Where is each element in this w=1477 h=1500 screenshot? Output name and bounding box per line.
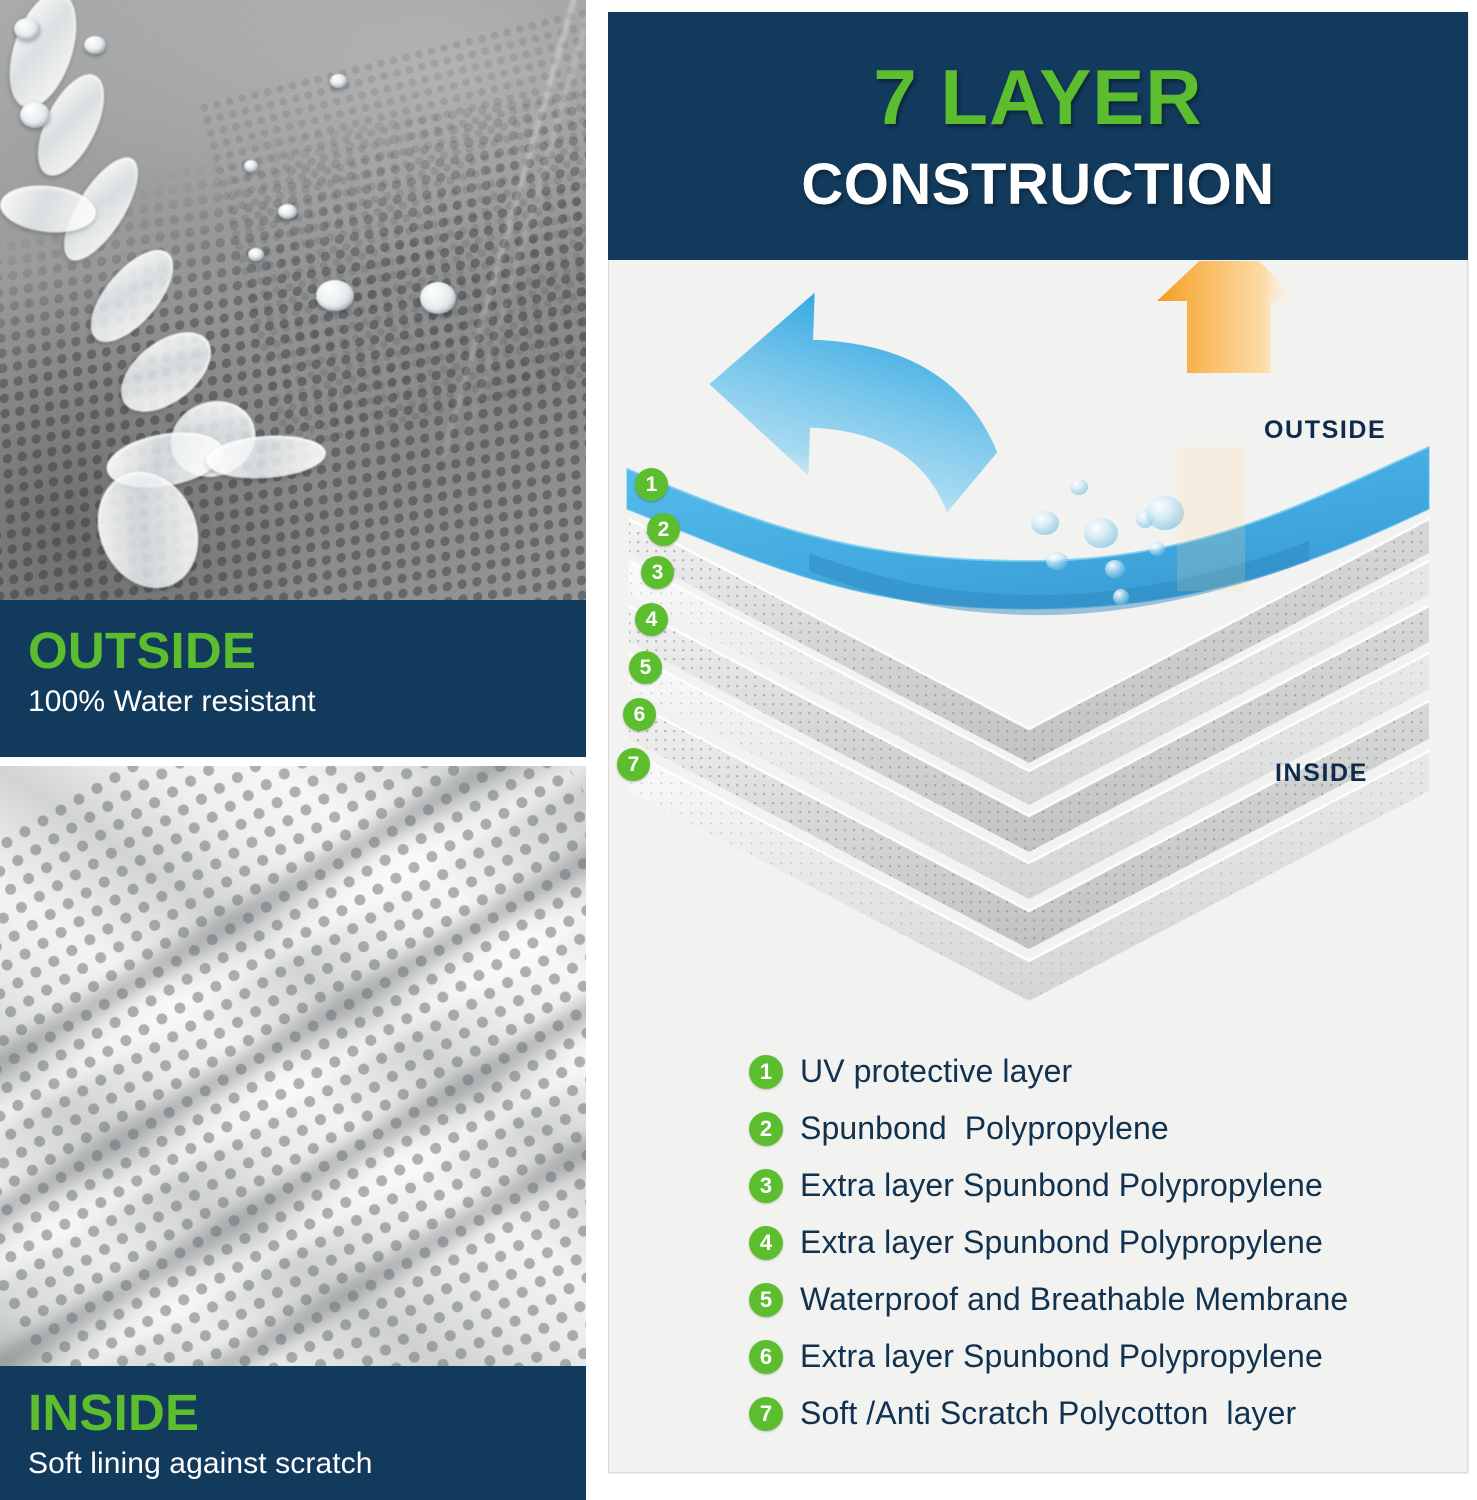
inside-title: INSIDE <box>28 1388 586 1438</box>
left-photo-column: OUTSIDE 100% Water resistant INSIDE Soft… <box>0 0 586 1500</box>
legend-badge-4: 4 <box>749 1226 783 1260</box>
layer-legend-list: 1 UV protective layer 2 Spunbond Polypro… <box>609 1043 1467 1442</box>
panel-header: 7 LAYER CONSTRUCTION <box>608 12 1468 260</box>
water-droplet <box>1113 589 1129 605</box>
list-item: 7 Soft /Anti Scratch Polycotton layer <box>609 1385 1467 1442</box>
list-item: 6 Extra layer Spunbond Polypropylene <box>609 1328 1467 1385</box>
legend-text-7: Soft /Anti Scratch Polycotton layer <box>800 1395 1296 1432</box>
legend-badge-1: 1 <box>749 1055 783 1089</box>
list-item: 4 Extra layer Spunbond Polypropylene <box>609 1214 1467 1271</box>
breathability-arrow <box>1157 261 1301 373</box>
legend-badge-2: 2 <box>749 1112 783 1146</box>
water-repel-arrow <box>705 289 1002 514</box>
construction-panel: 7 LAYER CONSTRUCTION <box>608 12 1468 1473</box>
diagram-badge-4: 4 <box>635 603 668 636</box>
water-bead <box>316 280 354 311</box>
diagram-badge-5: 5 <box>629 651 662 684</box>
legend-badge-6: 6 <box>749 1340 783 1374</box>
water-bead <box>278 204 297 219</box>
water-bead <box>248 248 264 261</box>
diagram-badge-6: 6 <box>623 698 656 731</box>
infographic-root: OUTSIDE 100% Water resistant INSIDE Soft… <box>0 0 1477 1500</box>
water-droplet <box>1149 542 1165 556</box>
water-droplet <box>1031 511 1059 535</box>
water-bead <box>20 102 50 128</box>
water-droplet <box>1105 560 1125 578</box>
outside-photo-card: OUTSIDE 100% Water resistant <box>0 0 586 757</box>
legend-badge-5: 5 <box>749 1283 783 1317</box>
legend-text-1: UV protective layer <box>800 1053 1072 1090</box>
inside-caption-bar: INSIDE Soft lining against scratch <box>0 1366 586 1500</box>
water-bead <box>420 282 456 314</box>
water-bead <box>14 18 40 40</box>
water-bead <box>330 74 347 88</box>
header-subtitle: CONSTRUCTION <box>801 156 1274 214</box>
legend-badge-7: 7 <box>749 1397 783 1431</box>
diagram-inside-label: INSIDE <box>1275 759 1368 788</box>
legend-text-5: Waterproof and Breathable Membrane <box>800 1281 1348 1318</box>
list-item: 3 Extra layer Spunbond Polypropylene <box>609 1157 1467 1214</box>
water-bead <box>84 36 106 54</box>
legend-text-2: Spunbond Polypropylene <box>800 1110 1169 1147</box>
list-item: 1 UV protective layer <box>609 1043 1467 1100</box>
diagram-badge-7: 7 <box>617 748 650 781</box>
legend-text-3: Extra layer Spunbond Polypropylene <box>800 1167 1323 1204</box>
legend-text-6: Extra layer Spunbond Polypropylene <box>800 1338 1323 1375</box>
inside-subtitle: Soft lining against scratch <box>28 1447 586 1481</box>
legend-text-4: Extra layer Spunbond Polypropylene <box>800 1224 1323 1261</box>
outside-fabric-photo <box>0 0 586 600</box>
diagram-outside-label: OUTSIDE <box>1264 416 1386 445</box>
list-item: 5 Waterproof and Breathable Membrane <box>609 1271 1467 1328</box>
diagram-badge-1: 1 <box>635 468 668 501</box>
inside-fabric-photo <box>0 766 586 1366</box>
outside-title: OUTSIDE <box>28 626 586 676</box>
inside-photo-card: INSIDE Soft lining against scratch <box>0 766 586 1500</box>
list-item: 2 Spunbond Polypropylene <box>609 1100 1467 1157</box>
header-title: 7 LAYER <box>873 58 1202 136</box>
layer-diagram: OUTSIDE INSIDE 1 2 3 4 5 6 7 <box>609 261 1467 1041</box>
outside-subtitle: 100% Water resistant <box>28 685 586 719</box>
legend-badge-3: 3 <box>749 1169 783 1203</box>
diagram-badge-3: 3 <box>641 556 674 589</box>
water-droplet <box>1046 552 1068 570</box>
outside-caption-bar: OUTSIDE 100% Water resistant <box>0 600 586 757</box>
water-bead <box>244 160 258 172</box>
diagram-badge-2: 2 <box>647 513 680 546</box>
water-droplet <box>1084 518 1118 548</box>
water-droplet <box>1070 479 1088 495</box>
